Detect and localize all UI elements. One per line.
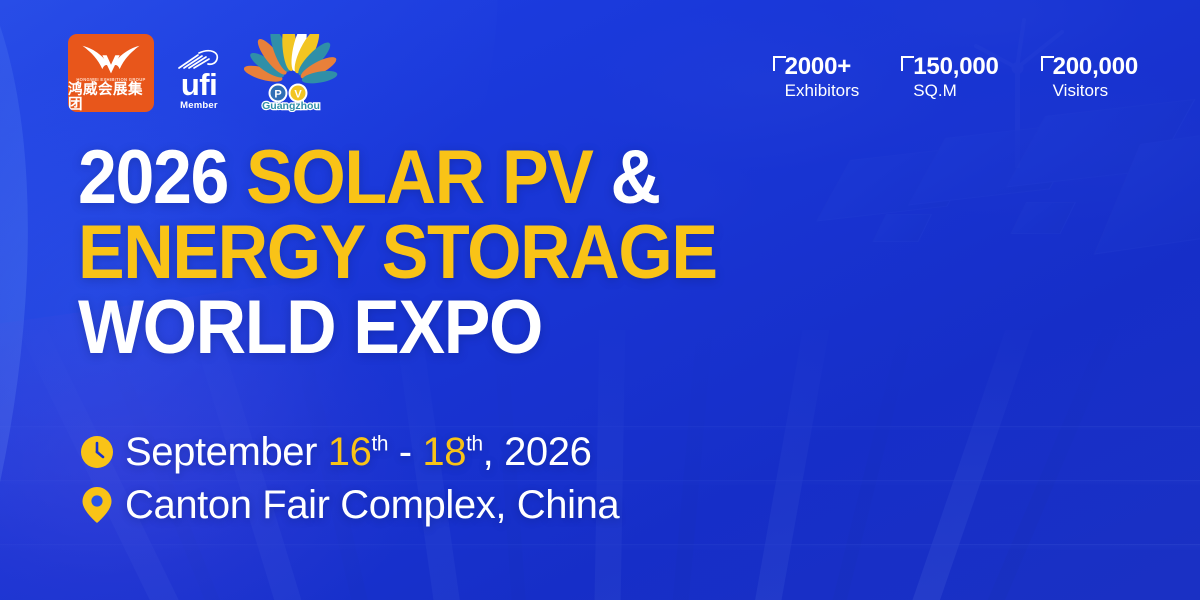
stat-area: 150,000 SQ.M: [901, 54, 998, 101]
ufi-member-label: Member: [180, 100, 218, 111]
date-day-end: 18: [422, 430, 466, 474]
stat-area-label: SQ.M: [913, 81, 998, 101]
logo-chinese-name: 鸿威会展集团: [68, 83, 154, 112]
title-line-1: 2026 SOLAR PV &: [78, 140, 717, 215]
stats-row: 2000+ Exhibitors 150,000 SQ.M 200,000 Vi…: [773, 54, 1138, 101]
stat-area-number: 150,000: [913, 54, 998, 80]
stat-exhibitors-label: Exhibitors: [785, 81, 860, 101]
stat-visitors: 200,000 Visitors: [1041, 54, 1138, 101]
event-title: 2026 SOLAR PV & ENERGY STORAGE WORLD EXP…: [78, 140, 772, 366]
ufi-wordmark: ufi: [181, 72, 217, 98]
date-separator: -: [388, 430, 422, 474]
event-location-text: Canton Fair Complex, China: [125, 483, 619, 528]
date-sup-end: th: [466, 433, 483, 456]
logo-hongwei-exhibition-group[interactable]: HONGWEI EXHIBITION GROUP 鸿威会展集团: [68, 34, 154, 112]
event-details: September 16th - 18th, 2026 Canton Fair …: [80, 430, 619, 536]
pv-sunburst-icon: P V Guangzhou: [244, 34, 340, 112]
wings-w-icon: [75, 38, 147, 76]
date-day-start: 16: [328, 430, 372, 474]
title-ampersand: &: [592, 135, 659, 220]
event-date-text: September 16th - 18th, 2026: [125, 430, 591, 475]
logo-ufi-member[interactable]: ufi Member: [168, 49, 230, 112]
svg-text:P: P: [274, 89, 281, 101]
event-location-row: Canton Fair Complex, China: [80, 483, 619, 528]
title-year: 2026: [78, 135, 246, 220]
stat-visitors-number: 200,000: [1053, 54, 1138, 80]
stat-exhibitors-number: 2000+: [785, 54, 860, 80]
stat-exhibitors: 2000+ Exhibitors: [773, 54, 860, 101]
svg-text:Guangzhou: Guangzhou: [262, 100, 320, 112]
clock-icon: [80, 435, 114, 469]
date-year: , 2026: [483, 430, 592, 474]
corner-bracket-icon: [773, 56, 786, 71]
corner-bracket-icon: [1041, 56, 1054, 71]
date-sup-start: th: [371, 433, 388, 456]
svg-text:V: V: [294, 89, 302, 101]
map-pin-icon: [80, 486, 114, 524]
date-month: September: [125, 430, 328, 474]
event-date-row: September 16th - 18th, 2026: [80, 430, 619, 475]
stat-visitors-label: Visitors: [1053, 81, 1138, 101]
event-promo-banner: HONGWEI EXHIBITION GROUP 鸿威会展集团 ufi Memb…: [0, 0, 1200, 600]
title-line-3: WORLD EXPO: [78, 290, 717, 365]
corner-bracket-icon: [901, 56, 914, 71]
logo-row: HONGWEI EXHIBITION GROUP 鸿威会展集团 ufi Memb…: [68, 34, 340, 112]
title-solar-pv: SOLAR PV: [246, 135, 592, 220]
logo-pv-guangzhou[interactable]: P V Guangzhou: [244, 34, 340, 112]
title-line-2: ENERGY STORAGE: [78, 215, 717, 290]
